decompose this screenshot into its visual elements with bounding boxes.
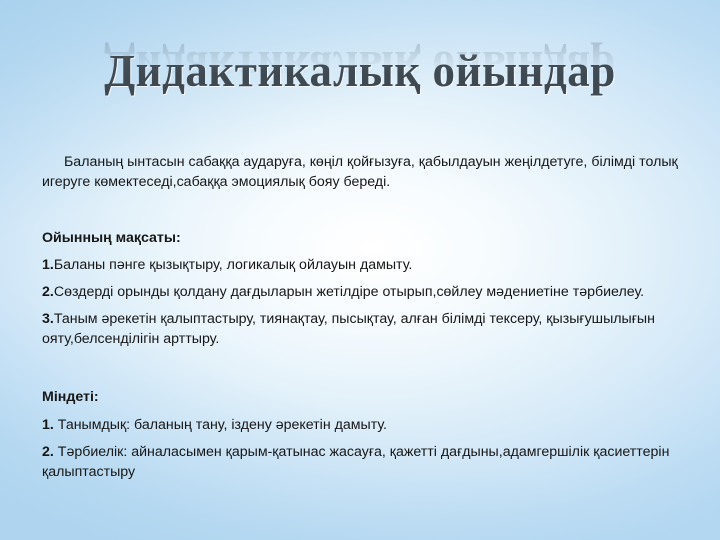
list-item-number: 1. [42, 257, 54, 273]
slide-title-block: Дидактикалық ойындар Дидактикалық ойында… [0, 46, 720, 126]
list-item-text: Баланы пәнге қызықтыру, логикалық ойлауы… [54, 257, 413, 273]
list-item-text: Тәрбиелік: айналасымен қарым-қатынас жас… [42, 444, 669, 480]
spacer-after-intro [42, 192, 688, 228]
list-item: 2.Сөздерді орынды қолдану дағдыларын жет… [42, 282, 688, 302]
intro-paragraph: Баланың ынтасын сабаққа аударуға, көңіл … [42, 152, 688, 192]
list-item-text: Танымдық: баланың тану, іздену әрекетін … [54, 417, 387, 433]
list-item: 3.Таным әрекетін қалыптастыру, тиянақтау… [42, 309, 688, 349]
spacer-goal-1 [42, 275, 688, 282]
list-item-number: 1. [42, 417, 54, 433]
spacer-between-sections [42, 349, 688, 387]
spacer-goal-2 [42, 302, 688, 309]
list-item: 1.Баланы пәнге қызықтыру, логикалық ойла… [42, 255, 688, 275]
spacer-task-1 [42, 435, 688, 442]
section-tasks-heading: Міндеті: [42, 387, 688, 407]
list-item-text: Сөздерді орынды қолдану дағдыларын жетіл… [54, 284, 644, 300]
list-item-number: 3. [42, 311, 54, 327]
section-goals: Ойынның мақсаты: 1.Баланы пәнге қызықтыр… [42, 228, 688, 349]
section-goals-heading: Ойынның мақсаты: [42, 228, 688, 248]
list-item-text: Таным әрекетін қалыптастыру, тиянақтау, … [42, 311, 655, 347]
slide-body: Баланың ынтасын сабаққа аударуға, көңіл … [42, 152, 688, 482]
spacer-tasks-heading [42, 407, 688, 415]
slide: Дидактикалық ойындар Дидактикалық ойында… [0, 0, 720, 540]
list-item-number: 2. [42, 444, 54, 460]
list-item: 2. Тәрбиелік: айналасымен қарым-қатынас … [42, 442, 688, 482]
page-title: Дидактикалық ойындар [0, 46, 720, 96]
spacer-goals-heading [42, 248, 688, 255]
section-tasks: Міндеті: 1. Танымдық: баланың тану, ізде… [42, 387, 688, 482]
list-item: 1. Танымдық: баланың тану, іздену әрекет… [42, 415, 688, 435]
list-item-number: 2. [42, 284, 54, 300]
